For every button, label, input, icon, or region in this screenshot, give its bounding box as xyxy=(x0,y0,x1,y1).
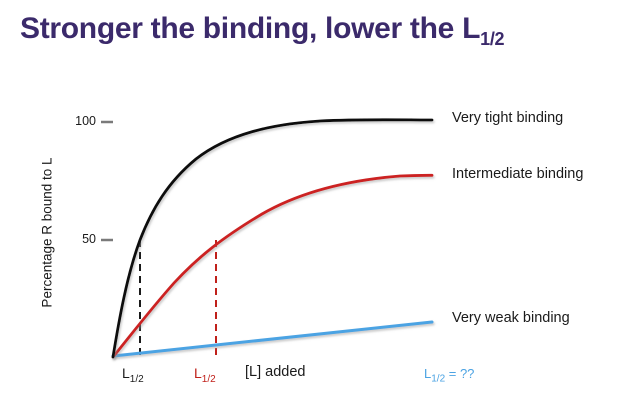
curve-label-intermediate-binding: Intermediate binding xyxy=(452,166,583,182)
page-title: Stronger the binding, lower the L1/2 xyxy=(20,12,630,50)
annotation-lhalf-weak-sub: 1/2 xyxy=(431,374,445,385)
title-main-text: Stronger the binding, lower the L xyxy=(20,12,480,45)
annotation-lhalf-intermediate-sub: 1/2 xyxy=(202,374,216,385)
binding-curve-figure: 100 50 Percentage R bound to L Very tigh… xyxy=(0,70,644,414)
annotation-lhalf-tight-base: L xyxy=(122,365,130,381)
curve-label-very-tight-binding: Very tight binding xyxy=(452,110,563,126)
curve-label-very-weak-binding: Very weak binding xyxy=(452,310,570,326)
slide-canvas: Stronger the binding, lower the L1/2 xyxy=(0,0,644,414)
curve-intermediate-binding xyxy=(113,175,432,357)
annotation-lhalf-intermediate: L1/2 xyxy=(194,365,216,385)
x-axis-title: [L] added xyxy=(245,364,305,380)
annotation-lhalf-intermediate-base: L xyxy=(194,365,202,381)
annotation-lhalf-tight: L1/2 xyxy=(122,365,144,385)
curve-very-tight-binding xyxy=(113,120,432,357)
y-axis-tick-label-100: 100 xyxy=(62,114,96,128)
annotation-lhalf-weak-unknown: L1/2 = ?? xyxy=(424,366,474,385)
annotation-lhalf-tight-sub: 1/2 xyxy=(130,374,144,385)
title-subscript: 1/2 xyxy=(480,29,504,49)
curve-very-weak-binding xyxy=(113,322,432,356)
y-axis-tick-label-50: 50 xyxy=(62,232,96,246)
annotation-lhalf-weak-suffix: = ?? xyxy=(445,366,474,381)
y-axis-title: Percentage R bound to L xyxy=(40,148,55,318)
